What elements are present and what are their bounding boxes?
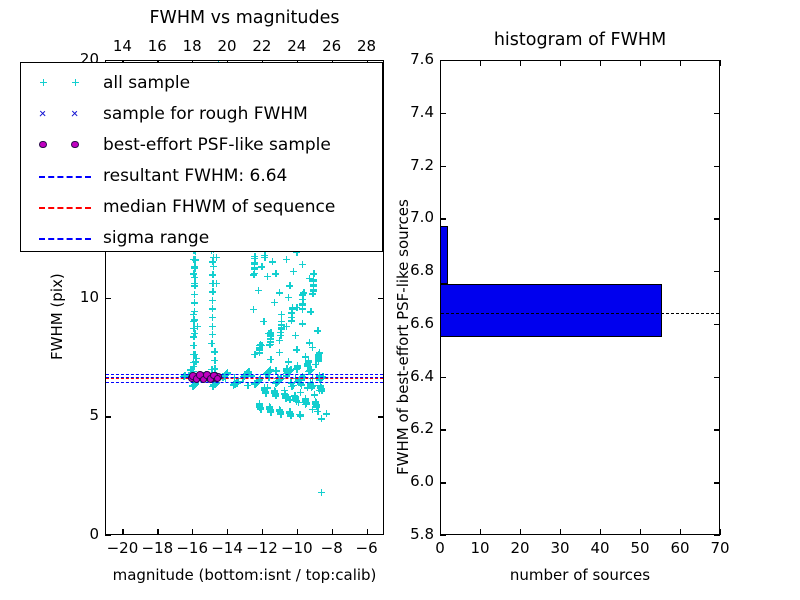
scatter-point (192, 256, 199, 263)
legend-item: all sample (27, 67, 376, 98)
tick-right (714, 60, 720, 61)
scatter-point (258, 263, 265, 270)
tick-label-left: 7.0 (388, 208, 434, 226)
tick-bottom (680, 529, 681, 535)
tick-label-bottom: −6 (345, 539, 389, 557)
scatter-point (209, 305, 216, 312)
scatter-point (299, 305, 306, 312)
scatter-point (312, 400, 319, 407)
tick-bottom (640, 529, 641, 535)
scatter-point (250, 306, 257, 313)
tick-bottom (297, 529, 298, 535)
legend-item-label: best-effort PSF-like sample (103, 135, 331, 155)
scatter-point (211, 357, 218, 364)
tick-bottom (262, 529, 263, 535)
scatter-point (257, 405, 264, 412)
legend-item: median FHWM of sequence (27, 191, 376, 222)
legend-item: sample for rough FWHM (27, 98, 376, 129)
scatter-point (276, 289, 283, 296)
scatter-point (264, 273, 271, 280)
scatter-point (323, 410, 330, 417)
scatter-point (191, 282, 198, 289)
scatter-point (318, 489, 325, 496)
scatter-point (314, 327, 321, 334)
tick-right (714, 218, 720, 219)
tick-left (440, 482, 446, 483)
scatter-point (209, 297, 216, 304)
scatter-point (276, 406, 283, 413)
legend-marker-dashed-line (27, 191, 103, 222)
tick-bottom (157, 529, 158, 535)
scatter-point (291, 393, 298, 400)
tick-label-bottom: 50 (618, 539, 662, 557)
tick-label-bottom: 40 (578, 539, 622, 557)
tick-top (680, 60, 681, 66)
tick-top (480, 60, 481, 66)
scatter-point (209, 271, 216, 278)
scatter-point (209, 323, 216, 330)
tick-left (105, 416, 111, 417)
scatter-point (288, 317, 295, 324)
legend-item-label: resultant FWHM: 6.64 (103, 166, 287, 186)
tick-bottom (227, 529, 228, 535)
scatter-point (190, 342, 197, 349)
scatter-point (278, 311, 285, 318)
dashed-line-icon (39, 176, 91, 178)
scatter-point (296, 411, 303, 418)
plus-icon (40, 79, 47, 86)
legend-marker-plus-marker (27, 67, 103, 98)
right-panel-title: histogram of FWHM (440, 30, 720, 50)
dot-icon (39, 141, 47, 149)
scatter-point (286, 282, 293, 289)
scatter-point (210, 263, 217, 270)
scatter-point (209, 331, 216, 338)
tick-right (714, 166, 720, 167)
plus-icon (72, 79, 79, 86)
legend-marker-dash-dot-line (27, 222, 103, 253)
legend-marker-dot-marker (27, 129, 103, 160)
tick-label-left: 5 (57, 406, 99, 424)
tick-left (440, 218, 446, 219)
scatter-point (271, 299, 278, 306)
scatter-point (210, 254, 217, 261)
scatter-point (191, 265, 198, 272)
scatter-point (271, 388, 278, 395)
scatter-point (251, 270, 258, 277)
scatter-point (278, 324, 285, 331)
tick-label-bottom: 30 (538, 539, 582, 557)
scatter-point (211, 348, 218, 355)
scatter-point (289, 304, 296, 311)
tick-right (714, 113, 720, 114)
tick-label-bottom: 20 (498, 539, 542, 557)
tick-right (714, 271, 720, 272)
tick-label-left: 6.6 (388, 314, 434, 332)
scatter-point (269, 258, 276, 265)
legend-item-label: all sample (103, 73, 190, 93)
tick-label-left: 0 (57, 525, 99, 543)
tick-left (440, 535, 446, 536)
legend-item-label: median FHWM of sequence (103, 197, 335, 217)
tick-bottom (332, 529, 333, 535)
scatter-point (191, 274, 198, 281)
figure-canvas: FWHM vs magnitudes magnitude (bottom:isn… (0, 0, 800, 600)
tick-label-left: 6.2 (388, 419, 434, 437)
left-panel-xlabel: magnitude (bottom:isnt / top:calib) (105, 566, 384, 584)
tick-bottom (480, 529, 481, 535)
histogram-reference-line (441, 313, 719, 314)
tick-left (440, 60, 446, 61)
scatter-point (307, 308, 314, 315)
left-panel-title: FWHM vs magnitudes (105, 8, 384, 28)
scatter-point (189, 382, 196, 389)
legend-marker-dashed-line (27, 160, 103, 191)
dot-icon (71, 141, 79, 149)
scatter-point (190, 325, 197, 332)
scatter-point (191, 316, 198, 323)
tick-bottom (122, 529, 123, 535)
legend: all samplesample for rough FWHMbest-effo… (20, 62, 383, 252)
dash-dot-line-icon (39, 238, 91, 240)
scatter-point (302, 396, 309, 403)
scatter-point (261, 252, 268, 259)
reference-line-dash-dot (106, 374, 383, 375)
scatter-point (256, 349, 263, 356)
tick-left (440, 429, 446, 430)
scatter-point (262, 389, 269, 396)
scatter-point (190, 333, 197, 340)
legend-item: best-effort PSF-like sample (27, 129, 376, 160)
scatter-point (209, 314, 216, 321)
tick-top (640, 60, 641, 66)
scatter-point (209, 280, 216, 287)
tick-left (105, 535, 111, 536)
tick-bottom (367, 529, 368, 535)
scatter-point (267, 341, 274, 348)
tick-top (720, 60, 721, 66)
tick-right (714, 324, 720, 325)
scatter-point (292, 332, 299, 339)
tick-top (520, 60, 521, 66)
tick-label-left: 6.4 (388, 367, 434, 385)
histogram-bar (440, 284, 662, 337)
tick-left (440, 166, 446, 167)
tick-right (378, 416, 384, 417)
legend-item: sigma range (27, 222, 376, 253)
scatter-point (191, 308, 198, 315)
scatter-point (293, 346, 300, 353)
scatter-point (277, 332, 284, 339)
reference-line-dashed (106, 378, 383, 379)
scatter-point (281, 390, 288, 397)
histogram-bar (440, 226, 448, 284)
tick-right (714, 535, 720, 536)
scatter-point (209, 288, 216, 295)
cross-icon (40, 110, 47, 117)
scatter-point (290, 268, 297, 275)
scatter-point (255, 287, 262, 294)
scatter-point (260, 318, 267, 325)
tick-label-left: 7.2 (388, 156, 434, 174)
tick-right (378, 298, 384, 299)
scatter-point (276, 349, 283, 356)
tick-bottom (520, 529, 521, 535)
legend-item: resultant FWHM: 6.64 (27, 160, 376, 191)
tick-top (560, 60, 561, 66)
left-panel-ylabel: FWHM (pix) (48, 273, 66, 360)
reference-line-dash-dot (106, 382, 383, 383)
scatter-point (285, 358, 292, 365)
dashed-line-icon (39, 207, 91, 209)
tick-right (714, 429, 720, 430)
scatter-point (299, 320, 306, 327)
tick-bottom (600, 529, 601, 535)
scatter-point (285, 294, 292, 301)
tick-left (440, 113, 446, 114)
tick-label-top: 28 (345, 37, 389, 55)
tick-label-left: 6.8 (388, 261, 434, 279)
right-panel-xlabel: number of sources (440, 566, 720, 584)
tick-label-bottom: 70 (698, 539, 742, 557)
tick-left (105, 298, 111, 299)
scatter-point (272, 270, 279, 277)
legend-item-label: sigma range (103, 228, 209, 248)
scatter-point (286, 409, 293, 416)
scatter-point (309, 290, 316, 297)
scatter-point (208, 340, 215, 347)
scatter-point (315, 357, 322, 364)
tick-left (440, 377, 446, 378)
tick-right (714, 377, 720, 378)
scatter-point (299, 261, 306, 268)
scatter-point (190, 359, 197, 366)
tick-label-left: 7.4 (388, 103, 434, 121)
tick-top (600, 60, 601, 66)
tick-label-bottom: 10 (458, 539, 502, 557)
scatter-point (318, 385, 325, 392)
tick-label-left: 7.6 (388, 50, 434, 68)
cross-icon (72, 110, 79, 117)
scatter-point (267, 356, 274, 363)
scatter-point (190, 351, 197, 358)
tick-label-left: 10 (57, 288, 99, 306)
scatter-point (283, 256, 290, 263)
tick-bottom (560, 529, 561, 535)
tick-label-bottom: 60 (658, 539, 702, 557)
tick-label-left: 5.8 (388, 525, 434, 543)
tick-right (714, 482, 720, 483)
legend-marker-cross-marker (27, 98, 103, 129)
tick-bottom (720, 529, 721, 535)
tick-bottom (192, 529, 193, 535)
scatter-point (191, 299, 198, 306)
tick-label-left: 6.0 (388, 472, 434, 490)
legend-item-label: sample for rough FWHM (103, 104, 308, 124)
scatter-point (191, 291, 198, 298)
scatter-point (267, 409, 274, 416)
